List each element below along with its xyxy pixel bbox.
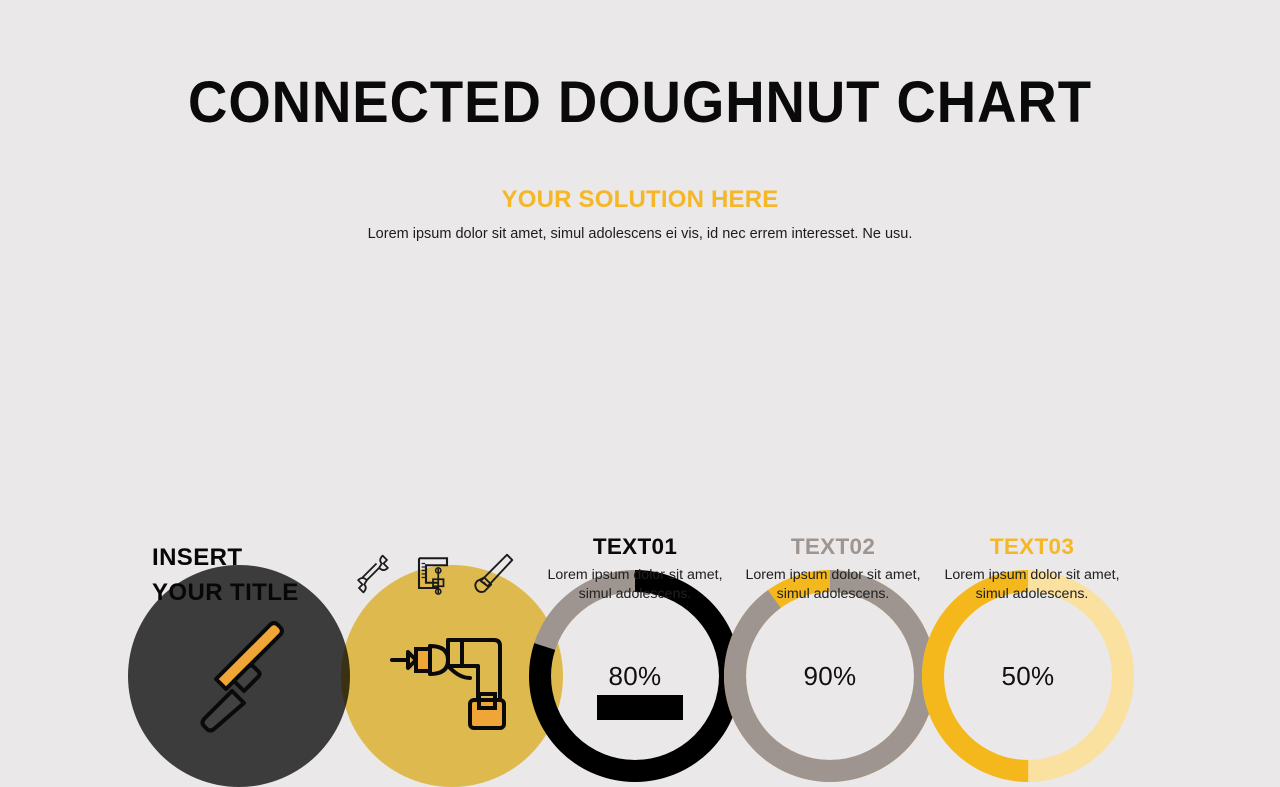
bottom-black-bar — [597, 695, 683, 720]
page-subtitle: YOUR SOLUTION HERE — [0, 185, 1280, 215]
wrench-icon — [352, 553, 394, 600]
insert-title-line2: YOUR TITLE — [152, 578, 352, 607]
insert-title-line1: INSERT — [152, 543, 352, 572]
circle-row: 80% 90% 50% — [0, 280, 1280, 520]
page-description: Lorem ipsum dolor sit amet, simul adoles… — [0, 224, 1280, 244]
caption-text01: TEXT01 Lorem ipsum dolor sit amet, simul… — [535, 533, 735, 604]
caption-text02: TEXT02 Lorem ipsum dolor sit amet, simul… — [733, 533, 933, 604]
caption-title-text01: TEXT01 — [535, 533, 735, 560]
caption-title-text03: TEXT03 — [932, 533, 1132, 560]
slide-canvas: CONNECTED DOUGHNUT CHART YOUR SOLUTION H… — [0, 0, 1280, 720]
page-title: CONNECTED DOUGHNUT CHART — [38, 68, 1241, 138]
tool-icon-group — [352, 548, 512, 604]
caption-body-text02: Lorem ipsum dolor sit amet, simul adoles… — [733, 566, 933, 604]
caption-body-text03: Lorem ipsum dolor sit amet, simul adoles… — [932, 566, 1132, 604]
caption-body-text01: Lorem ipsum dolor sit amet, simul adoles… — [535, 566, 735, 604]
caption-title-text02: TEXT02 — [733, 533, 933, 560]
clamp-icon — [412, 553, 454, 600]
caption-text03: TEXT03 Lorem ipsum dolor sit amet, simul… — [932, 533, 1132, 604]
caption-insert-title: INSERT YOUR TITLE — [152, 543, 352, 613]
saw-icon — [472, 553, 514, 600]
